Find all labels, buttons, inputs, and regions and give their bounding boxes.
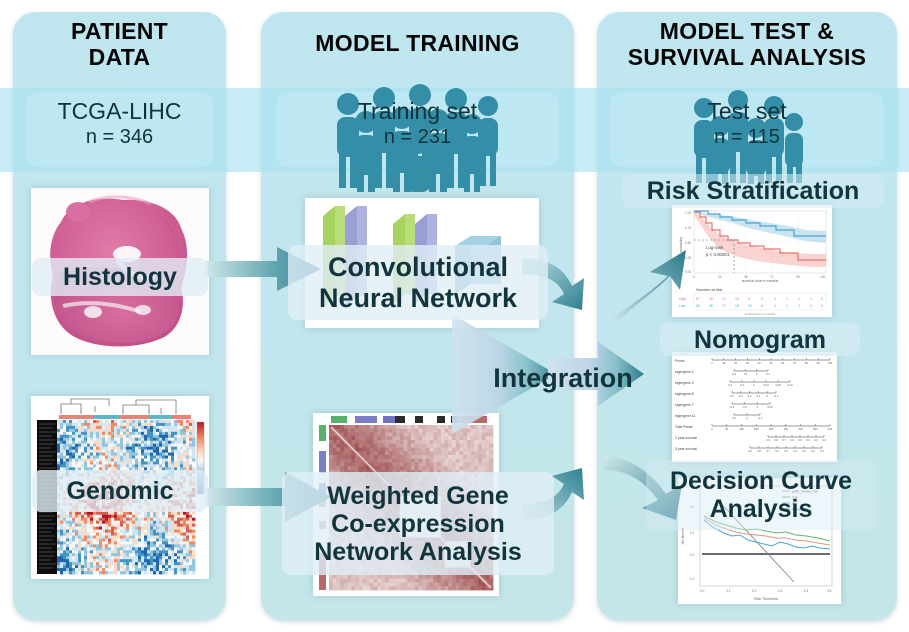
svg-text:-0.2: -0.2 <box>728 383 733 387</box>
svg-text:0.0: 0.0 <box>690 553 695 557</box>
svg-text:200: 200 <box>769 427 774 431</box>
svg-text:0.2: 0.2 <box>822 438 826 442</box>
svg-text:0.6: 0.6 <box>775 449 779 453</box>
svg-text:eigengene.7: eigengene.7 <box>675 403 694 407</box>
svg-text:96: 96 <box>796 275 800 279</box>
cohort-n-training: n = 231 <box>276 125 559 150</box>
svg-text:4: 4 <box>761 297 763 301</box>
svg-text:120: 120 <box>820 275 826 279</box>
svg-text:6: 6 <box>748 297 750 301</box>
cohort-name-test: Test set <box>610 98 884 125</box>
panel-title-test-line1: MODEL TEST & <box>597 18 897 44</box>
svg-text:0.4: 0.4 <box>804 589 809 593</box>
svg-text:0.6: 0.6 <box>790 438 794 442</box>
svg-text:72: 72 <box>770 275 774 279</box>
panel-title-model-training: MODEL TRAINING <box>261 30 574 56</box>
svg-text:eigengene.11: eigengene.11 <box>675 414 695 418</box>
svg-text:0.1: 0.1 <box>757 394 761 398</box>
svg-text:0.7: 0.7 <box>766 449 770 453</box>
label-cnn: Convolutional Neural Network <box>288 245 548 320</box>
svg-text:-0.1: -0.1 <box>689 577 695 581</box>
svg-text:1-year survival: 1-year survival <box>675 436 697 440</box>
svg-text:0.75: 0.75 <box>685 226 691 230</box>
svg-text:4: 4 <box>774 304 776 308</box>
svg-text:10: 10 <box>748 304 752 308</box>
svg-text:eigengene.3: eigengene.3 <box>675 381 694 385</box>
svg-text:0.9: 0.9 <box>748 449 752 453</box>
svg-text:0.3: 0.3 <box>802 449 806 453</box>
svg-text:-0.2: -0.2 <box>730 405 735 409</box>
panel-title-patient-data: PATIENT DATA <box>13 18 226 70</box>
svg-text:survival probability: survival probability <box>679 237 683 265</box>
svg-text:58: 58 <box>696 304 700 308</box>
label-cnn-line1: Convolutional <box>328 252 508 282</box>
nomogram-plot-image: Points0102030405060708090100eigengene.2-… <box>672 352 837 462</box>
svg-text:0.4: 0.4 <box>730 394 734 398</box>
svg-text:6: 6 <box>761 304 763 308</box>
cohort-n-patient: n = 346 <box>26 125 213 150</box>
svg-text:0.04: 0.04 <box>763 383 769 387</box>
label-histology: Histology <box>32 258 208 296</box>
svg-text:0: 0 <box>810 304 812 308</box>
svg-text:0: 0 <box>693 275 695 279</box>
svg-text:Total Points: Total Points <box>675 425 693 429</box>
panel-title-training-line1: MODEL TRAINING <box>261 30 574 56</box>
svg-text:4: 4 <box>774 297 776 301</box>
label-wgcna-line2: Co-expression <box>331 510 505 538</box>
label-nomogram: Nomogram <box>660 323 860 356</box>
svg-text:48: 48 <box>709 304 713 308</box>
kaplan-meier-plot-image: Log-rank p < 0.00001 survival time in mo… <box>672 205 832 317</box>
svg-text:1: 1 <box>798 297 800 301</box>
svg-text:1: 1 <box>786 297 788 301</box>
label-wgcna: Weighted Gene Co-expression Network Anal… <box>282 472 554 575</box>
svg-text:10: 10 <box>735 297 739 301</box>
svg-text:Log-rank: Log-rank <box>706 245 724 250</box>
svg-text:48: 48 <box>744 275 748 279</box>
label-integration: Integration <box>468 360 658 396</box>
cohort-n-test: n = 115 <box>610 125 884 150</box>
svg-text:0.8: 0.8 <box>757 449 761 453</box>
svg-text:0.1: 0.1 <box>732 416 736 420</box>
svg-text:1.00: 1.00 <box>685 211 691 215</box>
svg-text:Net Benefit: Net Benefit <box>681 528 685 545</box>
svg-text:0.3: 0.3 <box>739 394 743 398</box>
svg-text:17: 17 <box>722 297 726 301</box>
svg-text:0.25: 0.25 <box>685 256 691 260</box>
svg-text:0.1: 0.1 <box>726 589 731 593</box>
svg-text:-0.1: -0.1 <box>742 405 747 409</box>
svg-text:-0.1: -0.1 <box>740 383 745 387</box>
label-dca-line2: Analysis <box>710 495 813 523</box>
svg-text:eigengene.2: eigengene.2 <box>675 370 694 374</box>
svg-text:survival time in months: survival time in months <box>742 279 779 283</box>
svg-text:p < 0.00001: p < 0.00001 <box>706 252 730 257</box>
label-wgcna-line3: Network Analysis <box>314 538 521 566</box>
svg-text:0.12: 0.12 <box>787 383 793 387</box>
svg-text:0.1: 0.1 <box>766 372 770 376</box>
svg-text:0.5: 0.5 <box>798 438 802 442</box>
panel-title-patient-line1: PATIENT <box>13 18 226 44</box>
svg-text:24: 24 <box>718 275 722 279</box>
svg-text:100: 100 <box>828 361 833 365</box>
svg-text:250: 250 <box>784 427 789 431</box>
label-decision-curve-analysis: Decision Curve Analysis <box>646 460 876 530</box>
label-cnn-line2: Neural Network <box>319 283 517 313</box>
svg-text:0.4: 0.4 <box>793 449 797 453</box>
svg-text:-0.1: -0.1 <box>758 416 763 420</box>
svg-text:0.2: 0.2 <box>811 449 815 453</box>
svg-text:Points: Points <box>675 359 685 363</box>
svg-text:Risk Threshold: Risk Threshold <box>754 597 778 601</box>
svg-text:0: 0 <box>821 297 823 301</box>
svg-text:19: 19 <box>735 304 739 308</box>
svg-text:0.08: 0.08 <box>775 383 781 387</box>
svg-text:0.00: 0.00 <box>685 270 691 274</box>
svg-text:27: 27 <box>722 304 726 308</box>
svg-text:-0.1: -0.1 <box>774 394 779 398</box>
cohort-name-training: Training set <box>276 98 559 125</box>
svg-text:High: High <box>679 297 686 301</box>
cohort-name-patient: TCGA-LIHC <box>26 98 213 125</box>
label-risk-stratification: Risk Stratification <box>622 174 884 208</box>
panel-title-model-test: MODEL TEST & SURVIVAL ANALYSIS <box>597 18 897 70</box>
label-wgcna-line1: Weighted Gene <box>327 482 509 510</box>
svg-text:Number at risk: Number at risk <box>696 287 722 292</box>
label-dca-line1: Decision Curve <box>670 467 852 495</box>
svg-text:0.2: 0.2 <box>752 589 757 593</box>
svg-text:0.5: 0.5 <box>784 449 788 453</box>
svg-text:0.5: 0.5 <box>827 589 832 593</box>
svg-text:2: 2 <box>798 304 800 308</box>
svg-text:0.1: 0.1 <box>690 531 695 535</box>
label-genomic: Genomic <box>32 470 208 512</box>
svg-text:0.06: 0.06 <box>767 405 773 409</box>
svg-text:0.50: 0.50 <box>685 241 691 245</box>
svg-text:0.2: 0.2 <box>748 394 752 398</box>
svg-text:-0.2: -0.2 <box>732 372 737 376</box>
svg-text:Low: Low <box>679 304 686 308</box>
svg-text:0.0: 0.0 <box>700 589 705 593</box>
svg-text:-0.1: -0.1 <box>743 372 748 376</box>
panel-title-test-line2: SURVIVAL ANALYSIS <box>597 44 897 70</box>
cohort-patient: TCGA-LIHC n = 346 <box>26 98 213 150</box>
svg-text:eigengene.5: eigengene.5 <box>675 392 694 396</box>
svg-text:survival time in months: survival time in months <box>745 312 776 316</box>
svg-text:100: 100 <box>739 427 744 431</box>
cohort-training: Training set n = 231 <box>276 98 559 150</box>
svg-text:0.1: 0.1 <box>820 449 824 453</box>
svg-text:300: 300 <box>798 427 803 431</box>
svg-text:0.3: 0.3 <box>814 438 818 442</box>
svg-text:3-year survival: 3-year survival <box>675 447 697 451</box>
svg-text:2: 2 <box>786 304 788 308</box>
svg-text:0.3: 0.3 <box>778 589 783 593</box>
svg-text:0.7: 0.7 <box>782 438 786 442</box>
cohort-test: Test set n = 115 <box>610 98 884 150</box>
svg-text:350: 350 <box>813 427 818 431</box>
svg-text:0.8: 0.8 <box>774 438 778 442</box>
svg-text:150: 150 <box>754 427 759 431</box>
panel-title-patient-line2: DATA <box>13 44 226 70</box>
svg-text:0.9: 0.9 <box>766 438 770 442</box>
workflow-figure: Log-rank p < 0.00001 survival time in mo… <box>0 0 909 632</box>
svg-text:57: 57 <box>696 297 700 301</box>
svg-text:0.4: 0.4 <box>806 438 810 442</box>
svg-text:0: 0 <box>821 304 823 308</box>
svg-text:34: 34 <box>709 297 713 301</box>
svg-text:400: 400 <box>828 427 833 431</box>
svg-text:1: 1 <box>810 297 812 301</box>
